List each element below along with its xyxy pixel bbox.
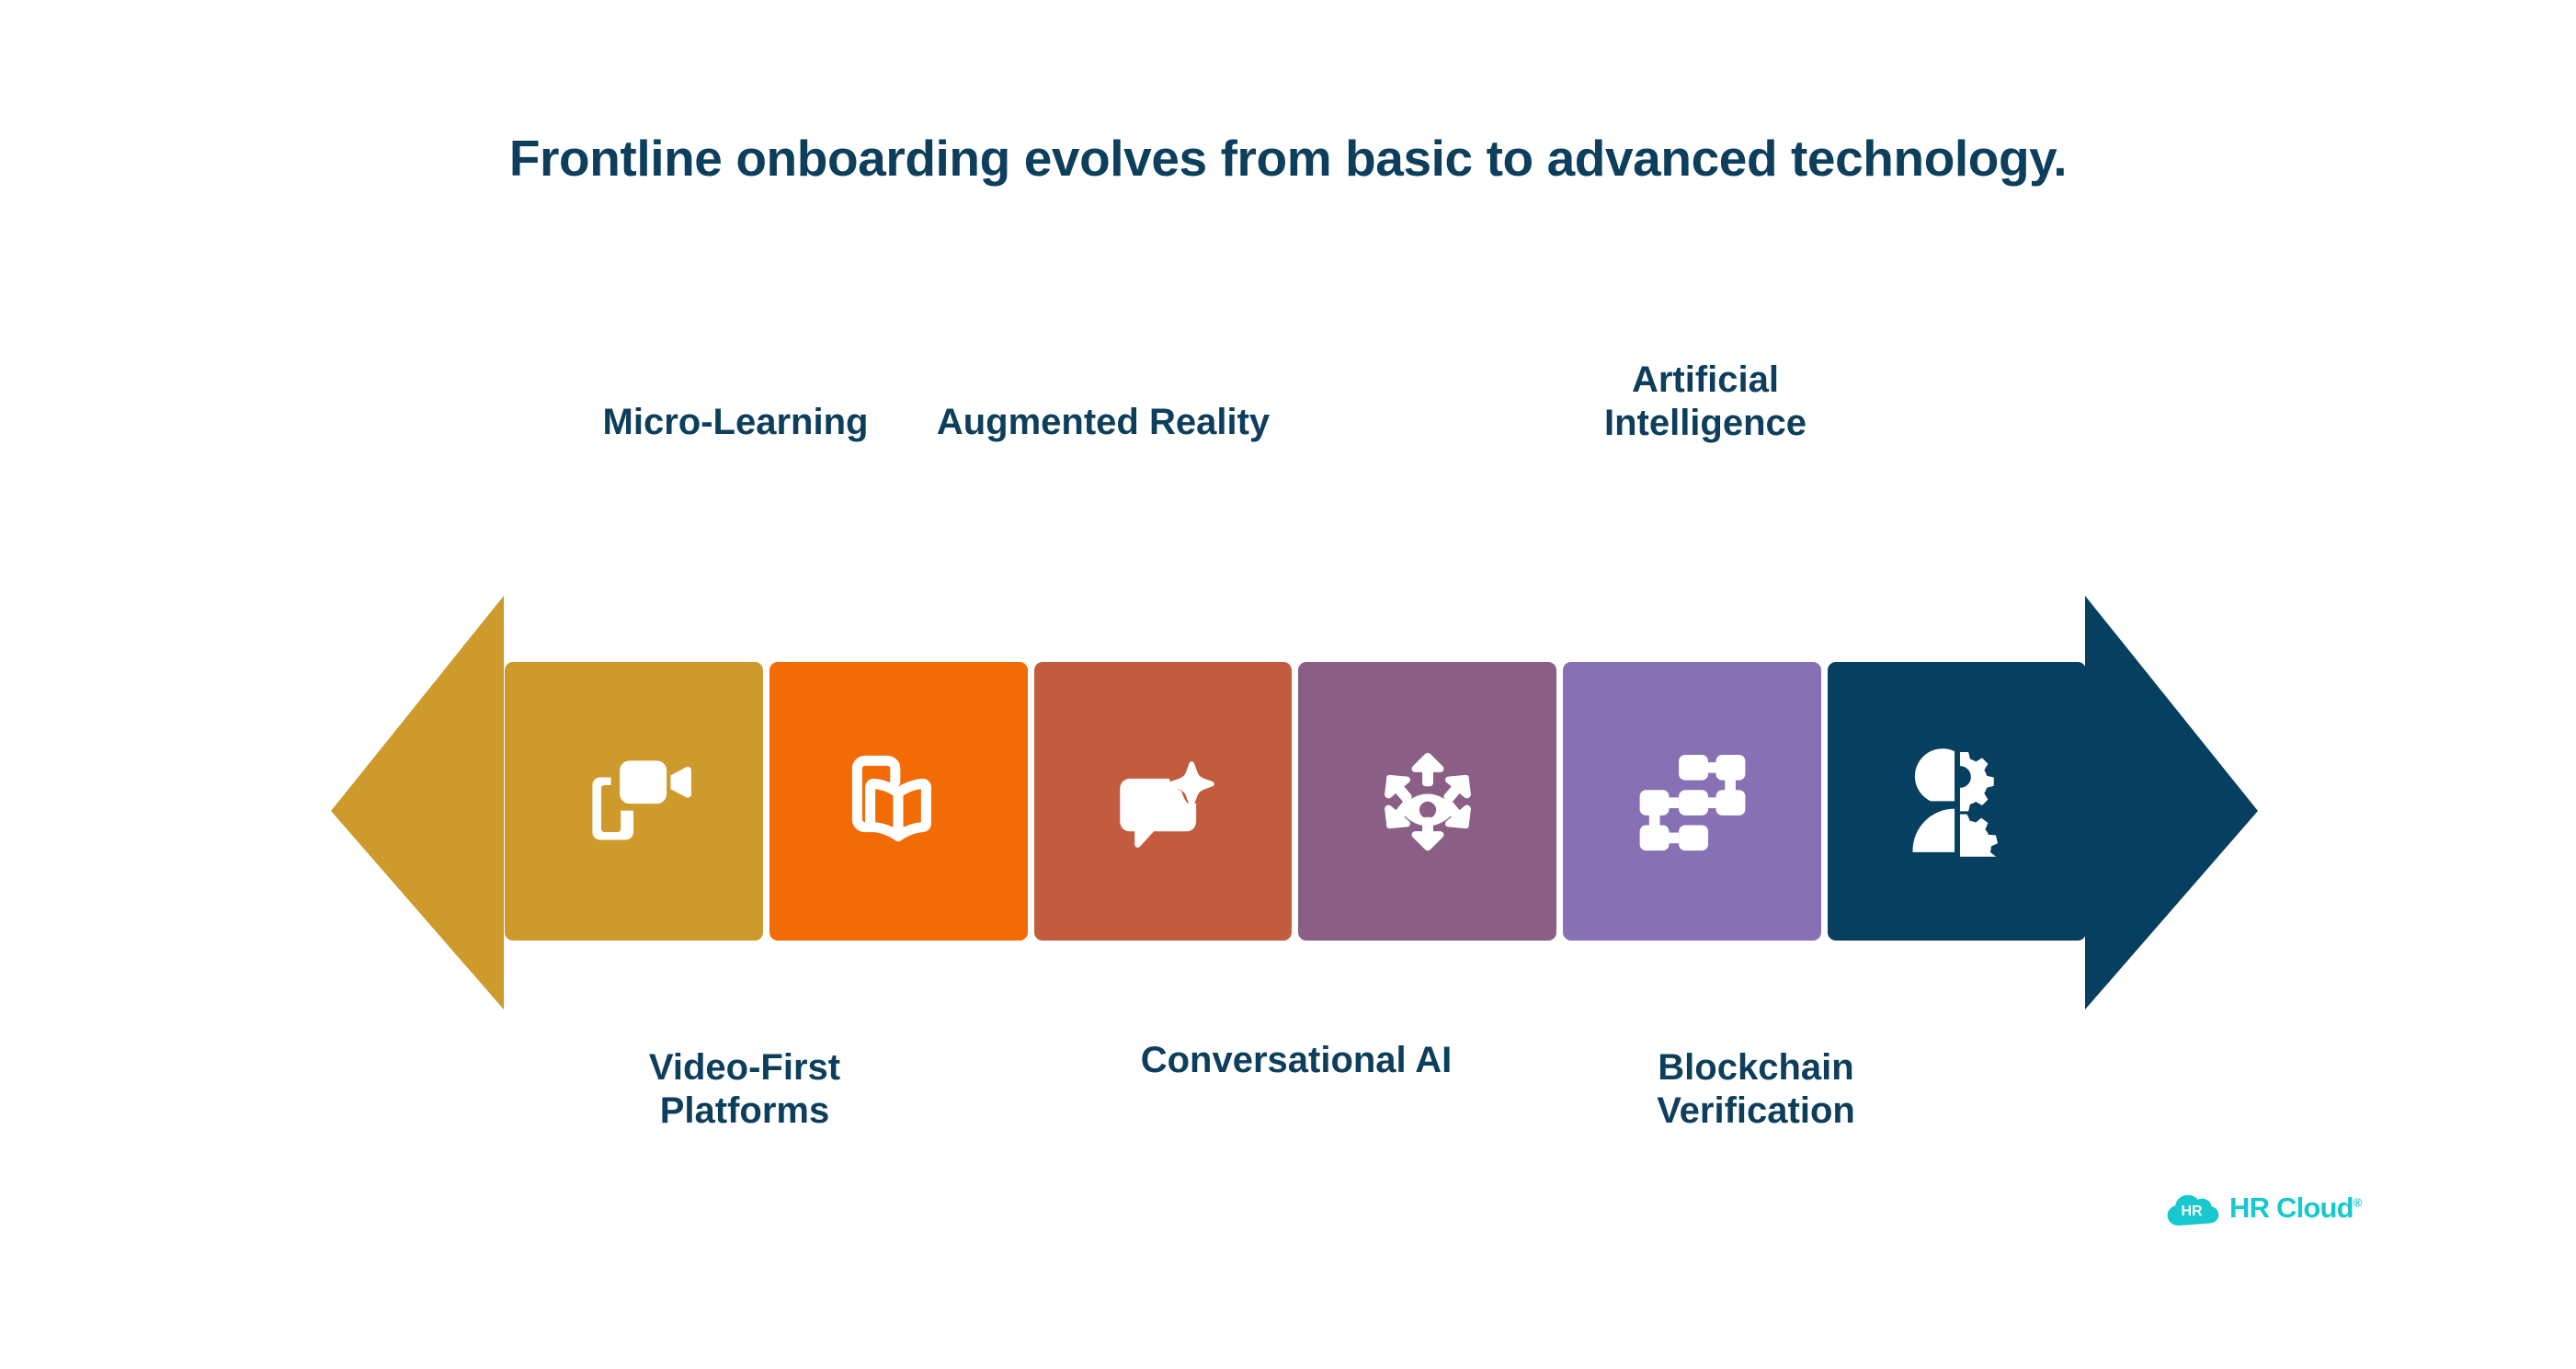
- top-label-artificial-intelligence: Artificial Intelligence: [1494, 359, 1917, 445]
- bottom-label-conversational-ai: Conversational AI: [1039, 1039, 1554, 1082]
- tile-strip: [505, 662, 2086, 941]
- logo-wordmark-text: HR Cloud: [2229, 1192, 2354, 1224]
- book-device-icon: [836, 739, 961, 864]
- cloud-badge-text: HR: [2181, 1204, 2203, 1219]
- tile-blockchain-verification[interactable]: [1563, 662, 1821, 941]
- bottom-label-blockchain-verification: Blockchain Verification: [1544, 1046, 1967, 1133]
- timeline-arrow-band: [0, 596, 2576, 1010]
- eye-arrows-icon: [1365, 739, 1490, 864]
- registered-mark: ®: [2354, 1196, 2362, 1210]
- tile-conversational-ai[interactable]: [1034, 662, 1293, 941]
- person-gears-icon: [1895, 739, 2020, 864]
- arrow-left-head-icon: [331, 596, 504, 1010]
- tile-micro-learning[interactable]: [769, 662, 1028, 941]
- tile-augmented-reality[interactable]: [1298, 662, 1556, 941]
- cloud-badge-icon: HR: [2165, 1188, 2220, 1228]
- video-phone-icon: [571, 739, 696, 864]
- page-title: Frontline onboarding evolves from basic …: [0, 129, 2576, 188]
- bottom-label-video-first-platforms: Video-First Platforms: [533, 1046, 956, 1133]
- infographic-canvas: Frontline onboarding evolves from basic …: [0, 0, 2576, 1369]
- bottom-labels-group: Video-First Platforms Conversational AI …: [0, 1039, 2576, 1204]
- top-labels-group: Micro-Learning Augmented Reality Artific…: [0, 340, 2576, 524]
- blockchain-nodes-icon: [1630, 739, 1755, 864]
- arrow-right-head-icon: [2085, 596, 2258, 1010]
- tile-video-first-platforms[interactable]: [505, 662, 763, 941]
- hr-cloud-logo[interactable]: HR HR Cloud®: [2165, 1188, 2362, 1228]
- logo-wordmark: HR Cloud®: [2229, 1192, 2362, 1225]
- chat-sparkle-icon: [1100, 739, 1225, 864]
- tile-artificial-intelligence[interactable]: [1828, 662, 2086, 941]
- top-label-augmented-reality: Augmented Reality: [846, 401, 1361, 444]
